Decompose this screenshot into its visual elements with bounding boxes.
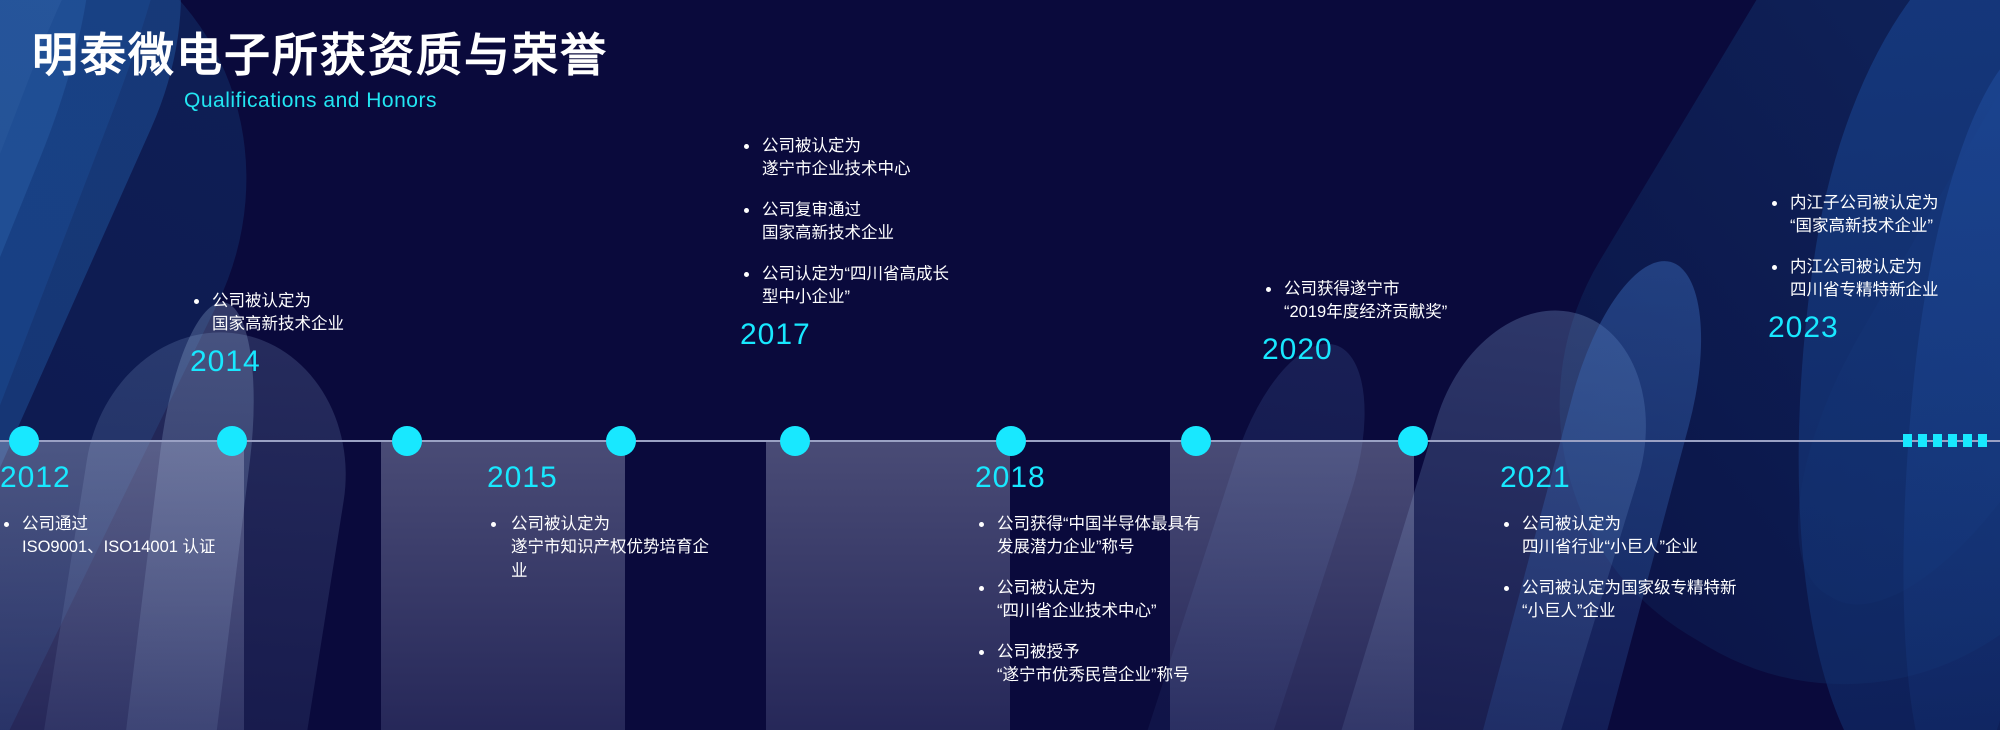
background-swoosh-right-2	[1871, 34, 2000, 730]
page-title: 明泰微电子所获资质与荣誉	[32, 30, 608, 81]
event-bullet: 公司被认定为 遂宁市企业技术中心	[740, 135, 1010, 182]
timeline-axis-dashes	[1903, 434, 1987, 447]
event-bullet: 公司获得“中国半导体最具有 发展潜力企业”称号	[975, 513, 1220, 560]
event-bullet: 公司被认定为 遂宁市知识产权优势培育企业	[487, 513, 717, 583]
event-bullet: 公司通过 ISO9001、ISO14001 认证	[0, 513, 260, 560]
axis-dash	[1903, 434, 1912, 447]
event-year-label: 2020	[1262, 335, 1522, 365]
timeline-event-2015[interactable]: 2015 公司被认定为 遂宁市知识产权优势培育企业	[487, 441, 717, 583]
event-bullet-list: 公司被认定为 遂宁市知识产权优势培育企业	[487, 513, 717, 583]
event-bullet-list: 公司被认定为 遂宁市企业技术中心 公司复审通过 国家高新技术企业 公司认定为“四…	[740, 135, 1010, 310]
timeline-event-2017[interactable]: 公司被认定为 遂宁市企业技术中心 公司复审通过 国家高新技术企业 公司认定为“四…	[740, 135, 1010, 350]
axis-dash	[1918, 434, 1927, 447]
event-year-label: 2023	[1768, 313, 2000, 343]
timeline-event-2023[interactable]: 内江子公司被认定为 “国家高新技术企业” 内江公司被认定为 四川省专精特新企业 …	[1768, 192, 2000, 343]
event-bullet: 公司认定为“四川省高成长 型中小企业”	[740, 263, 1010, 310]
axis-dash	[1933, 434, 1942, 447]
event-bullet-list: 内江子公司被认定为 “国家高新技术企业” 内江公司被认定为 四川省专精特新企业	[1768, 192, 2000, 303]
event-bullet: 公司被授予 “遂宁市优秀民营企业”称号	[975, 641, 1220, 688]
event-bullet: 内江子公司被认定为 “国家高新技术企业”	[1768, 192, 2000, 239]
event-bullet-list: 公司通过 ISO9001、ISO14001 认证	[0, 513, 260, 560]
event-bullet-list: 公司被认定为 国家高新技术企业	[190, 290, 440, 337]
event-bullet: 公司获得遂宁市 “2019年度经济贡献奖”	[1262, 278, 1522, 325]
timeline-event-2018[interactable]: 2018 公司获得“中国半导体最具有 发展潜力企业”称号 公司被认定为 “四川省…	[975, 441, 1220, 688]
event-year-label: 2017	[740, 320, 1010, 350]
axis-dash	[1978, 434, 1987, 447]
timeline-event-2012[interactable]: 2012 公司通过 ISO9001、ISO14001 认证	[0, 441, 260, 560]
axis-dash	[1948, 434, 1957, 447]
event-bullet: 公司复审通过 国家高新技术企业	[740, 199, 1010, 246]
event-bullet: 公司被认定为 四川省行业“小巨人”企业	[1500, 513, 1780, 560]
axis-dash	[1963, 434, 1972, 447]
event-year-label: 2018	[975, 463, 1220, 493]
timeline-event-2014[interactable]: 公司被认定为 国家高新技术企业 2014	[190, 290, 440, 377]
event-year-label: 2014	[190, 347, 440, 377]
page-subtitle: Qualifications and Honors	[184, 89, 608, 113]
timeline-dot-2023[interactable]	[1398, 426, 1428, 456]
timeline-event-2021[interactable]: 2021 公司被认定为 四川省行业“小巨人”企业 公司被认定为国家级专精特新 “…	[1500, 441, 1780, 624]
event-panel-2018	[766, 441, 1010, 730]
event-bullet: 公司被认定为 “四川省企业技术中心”	[975, 577, 1220, 624]
timeline-dot-2018[interactable]	[780, 426, 810, 456]
page-header: 明泰微电子所获资质与荣誉 Qualifications and Honors	[32, 30, 608, 113]
event-bullet-list: 公司被认定为 四川省行业“小巨人”企业 公司被认定为国家级专精特新 “小巨人”企…	[1500, 513, 1780, 624]
event-bullet: 公司被认定为国家级专精特新 “小巨人”企业	[1500, 577, 1780, 624]
timeline-infographic: 明泰微电子所获资质与荣誉 Qualifications and Honors 公…	[0, 0, 2000, 730]
event-bullet-list: 公司获得“中国半导体最具有 发展潜力企业”称号 公司被认定为 “四川省企业技术中…	[975, 513, 1220, 688]
event-bullet: 公司被认定为 国家高新技术企业	[190, 290, 440, 337]
timeline-dot-2015[interactable]	[392, 426, 422, 456]
event-bullet: 内江公司被认定为 四川省专精特新企业	[1768, 256, 2000, 303]
event-year-label: 2015	[487, 463, 717, 493]
event-year-label: 2012	[0, 463, 260, 493]
timeline-event-2020[interactable]: 公司获得遂宁市 “2019年度经济贡献奖” 2020	[1262, 278, 1522, 365]
event-year-label: 2021	[1500, 463, 1780, 493]
event-bullet-list: 公司获得遂宁市 “2019年度经济贡献奖”	[1262, 278, 1522, 325]
